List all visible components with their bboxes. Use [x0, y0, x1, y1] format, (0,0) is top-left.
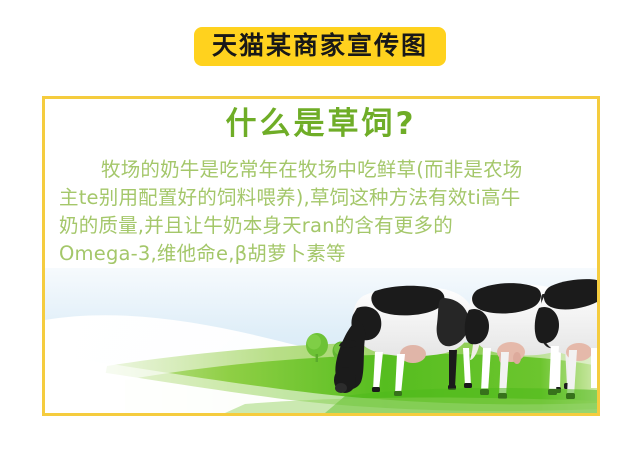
body-line-4: Omega-3,维他命e,β胡萝卜素等 [59, 240, 589, 268]
promo-banner-label: 天猫某商家宣传图 [212, 33, 428, 58]
body-line-1: 牧场的奶牛是吃常年在牧场中吃鲜草(而非是农场 [59, 156, 589, 184]
banner-row: 天猫某商家宣传图 [0, 0, 640, 92]
section-heading: 什么是草饲? [226, 107, 417, 143]
body-line-3: 奶的质量,并且让牛奶本身天ran的含有更多的 [59, 212, 589, 240]
body-line-2: 主te别用配置好的饲料喂养),草饲这种方法有效ti高牛 [59, 184, 589, 212]
pasture-scene-image [45, 268, 597, 413]
body-paragraph: 牧场的奶牛是吃常年在牧场中吃鲜草(而非是农场 主te别用配置好的饲料喂养),草饲… [59, 156, 589, 268]
heading-row: 什么是草饲? [45, 107, 597, 143]
promo-banner-pill: 天猫某商家宣传图 [194, 27, 446, 66]
content-card: 什么是草饲? 牧场的奶牛是吃常年在牧场中吃鲜草(而非是农场 主te别用配置好的饲… [42, 96, 600, 416]
